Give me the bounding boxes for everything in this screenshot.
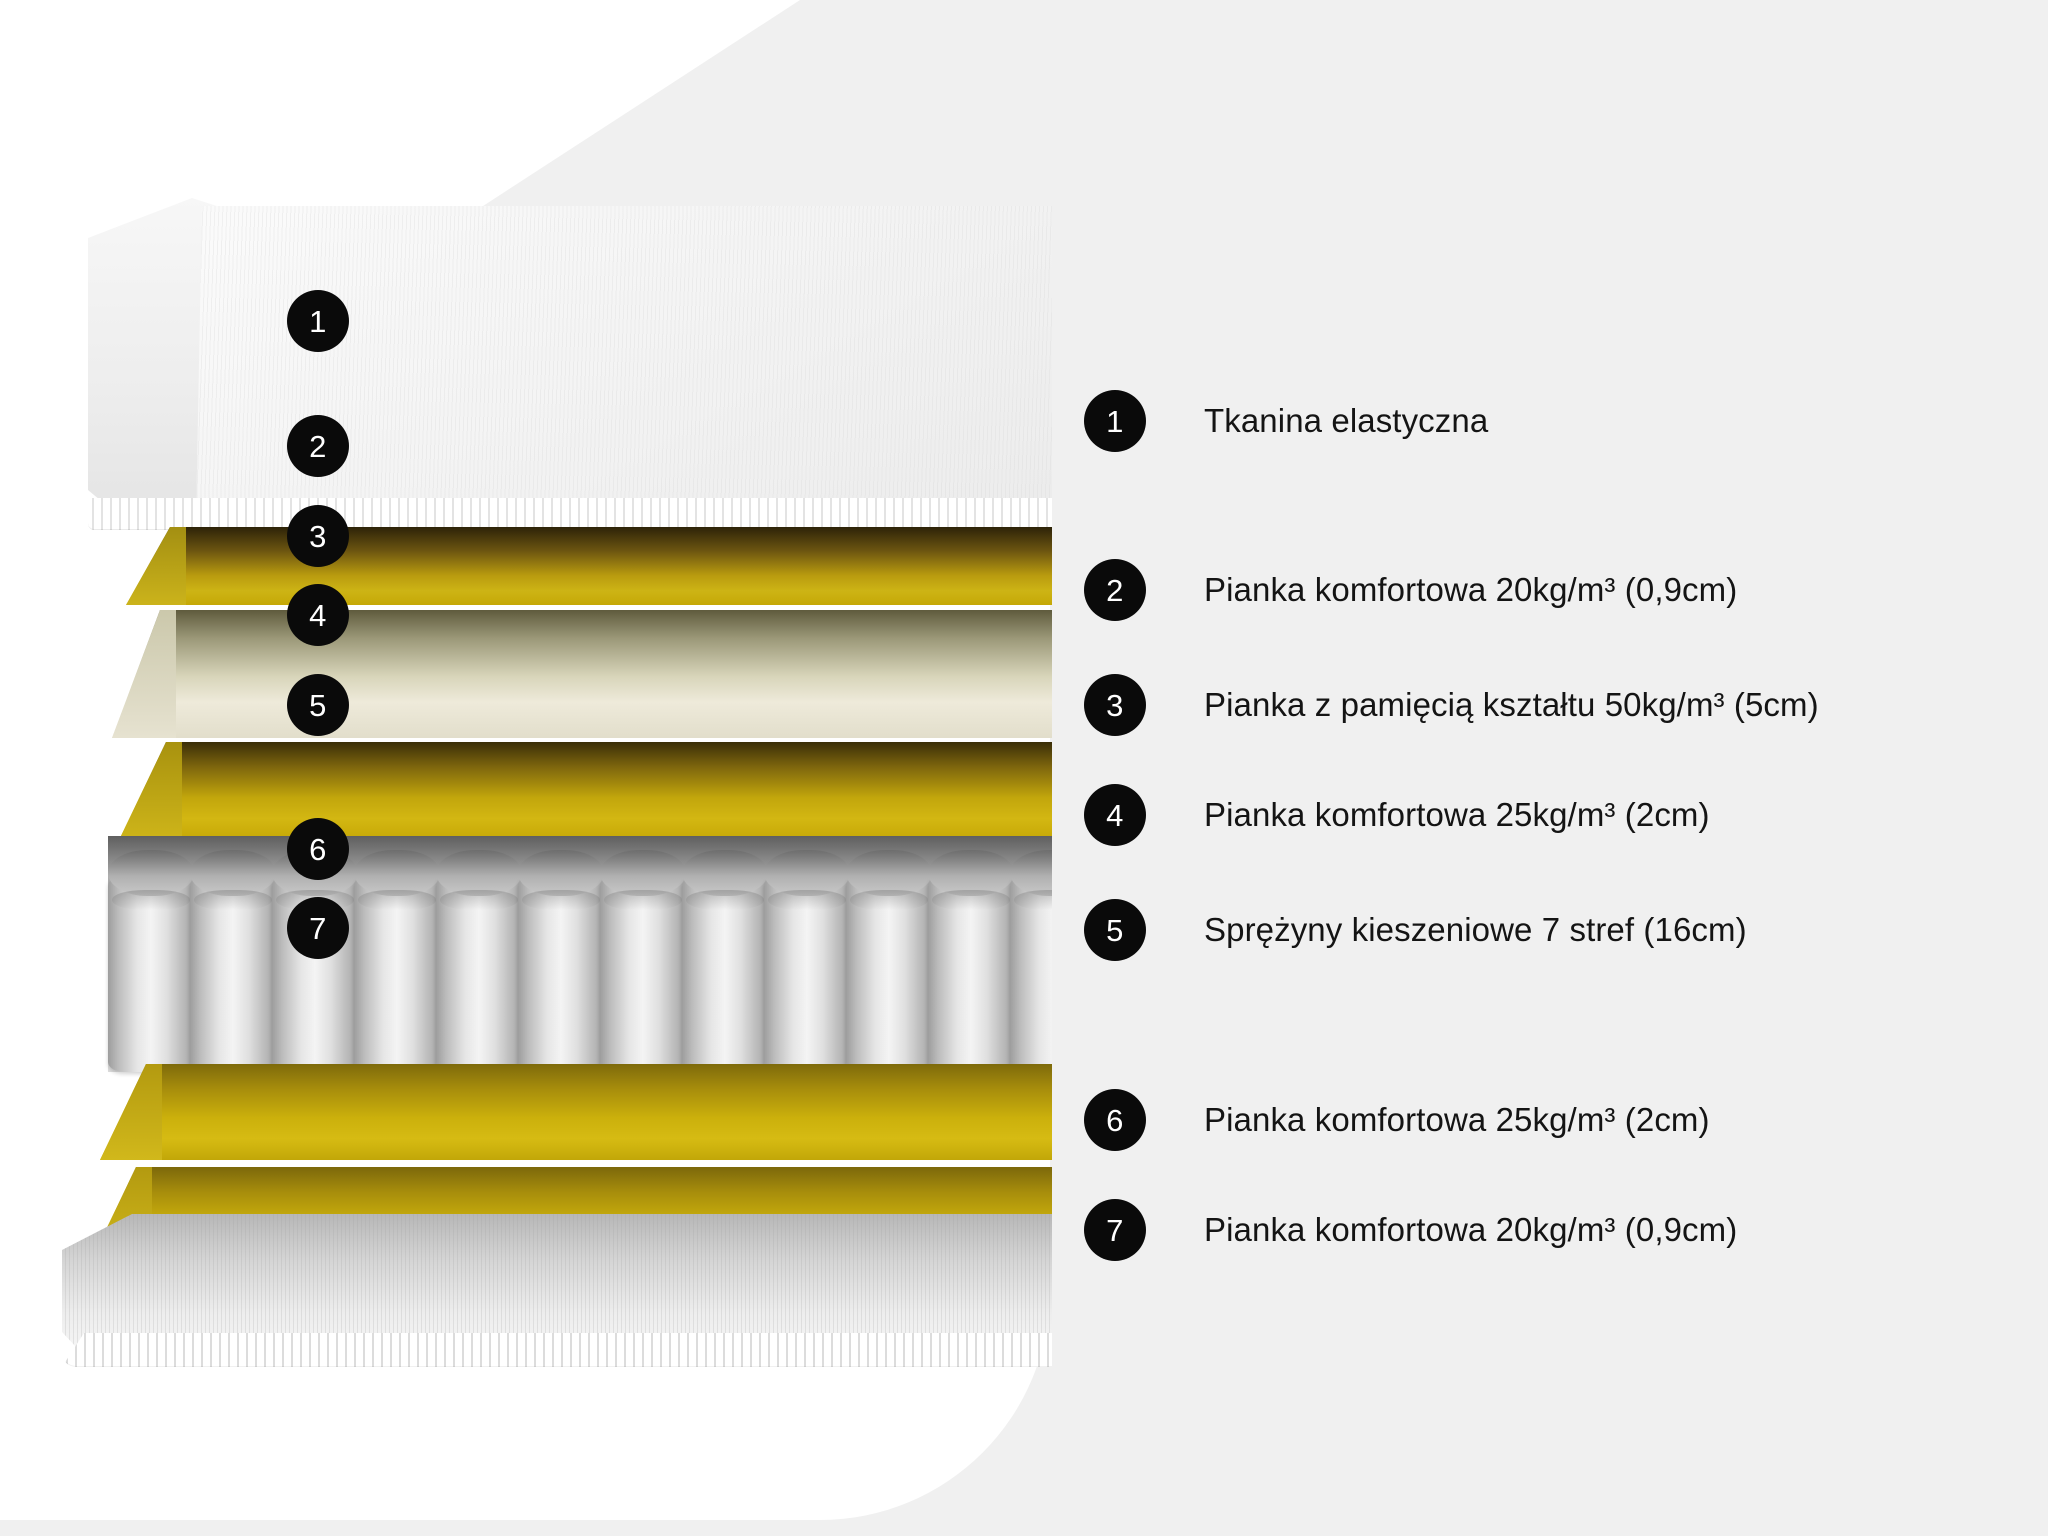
legend-row-2: 2 Pianka komfortowa 20kg/m³ (0,9cm) (1084, 559, 1737, 621)
pocket-spring (600, 876, 686, 1072)
legend-row-1: 1 Tkanina elastyczna (1084, 390, 1488, 452)
legend-badge-6: 6 (1084, 1089, 1146, 1151)
legend-row-3: 3 Pianka z pamięcią kształtu 50kg/m³ (5c… (1084, 674, 1819, 736)
layer-badge-6: 6 (287, 818, 349, 880)
pocket-spring (928, 876, 1014, 1072)
pocket-spring (764, 876, 850, 1072)
layer-1-cover-piping (88, 498, 1052, 530)
legend-badge-2: 2 (1084, 559, 1146, 621)
pocket-spring (354, 876, 440, 1072)
mattress-cross-section-image: 1 2 3 4 5 6 7 (0, 0, 1052, 1536)
layer-5-pocket-springs (108, 836, 1052, 1072)
legend-label-3: Pianka z pamięcią kształtu 50kg/m³ (5cm) (1204, 686, 1819, 724)
pocket-spring (846, 876, 932, 1072)
layer-4-comfort-foam (120, 742, 1052, 838)
legend-label-7: Pianka komfortowa 20kg/m³ (0,9cm) (1204, 1211, 1737, 1249)
legend-label-1: Tkanina elastyczna (1204, 402, 1488, 440)
mattress-layers-infographic: 1 2 3 4 5 6 7 1 Tkanina elastyczna 2 Pia… (0, 0, 2048, 1536)
legend-badge-4: 4 (1084, 784, 1146, 846)
legend-row-7: 7 Pianka komfortowa 20kg/m³ (0,9cm) (1084, 1199, 1737, 1261)
pocket-spring (1010, 876, 1052, 1072)
layer-6-foam-side (100, 1064, 162, 1160)
legend-label-5: Sprężyny kieszeniowe 7 stref (16cm) (1204, 911, 1747, 949)
layer-2-comfort-foam (126, 527, 1052, 605)
legend-badge-3: 3 (1084, 674, 1146, 736)
layer-badge-1: 1 (287, 290, 349, 352)
legend-label-6: Pianka komfortowa 25kg/m³ (2cm) (1204, 1101, 1710, 1139)
layer-legend: 1 Tkanina elastyczna 2 Pianka komfortowa… (1084, 0, 1984, 1536)
layer-badge-7: 7 (287, 897, 349, 959)
legend-row-6: 6 Pianka komfortowa 25kg/m³ (2cm) (1084, 1089, 1710, 1151)
legend-row-4: 4 Pianka komfortowa 25kg/m³ (2cm) (1084, 784, 1710, 846)
legend-label-4: Pianka komfortowa 25kg/m³ (2cm) (1204, 796, 1710, 834)
layer-3-memory-foam (112, 610, 1052, 738)
layer-badge-2: 2 (287, 415, 349, 477)
legend-badge-1: 1 (1084, 390, 1146, 452)
pocket-spring (190, 876, 276, 1072)
pocket-spring (518, 876, 604, 1072)
layer-badge-5: 5 (287, 674, 349, 736)
legend-label-2: Pianka komfortowa 20kg/m³ (0,9cm) (1204, 571, 1737, 609)
pocket-spring (682, 876, 768, 1072)
legend-row-5: 5 Sprężyny kieszeniowe 7 stref (16cm) (1084, 899, 1747, 961)
legend-badge-7: 7 (1084, 1199, 1146, 1261)
springs-top-shadow (108, 836, 1052, 876)
layer-2-foam-side (126, 527, 186, 605)
pocket-spring (436, 876, 522, 1072)
mattress-base-piping (62, 1333, 1052, 1367)
layer-3-foam-side (112, 610, 176, 738)
layer-badge-4: 4 (287, 584, 349, 646)
layer-badge-3: 3 (287, 505, 349, 567)
legend-badge-5: 5 (1084, 899, 1146, 961)
pocket-spring (108, 876, 194, 1072)
layer-6-comfort-foam (100, 1064, 1052, 1160)
layer-4-foam-side (120, 742, 182, 838)
